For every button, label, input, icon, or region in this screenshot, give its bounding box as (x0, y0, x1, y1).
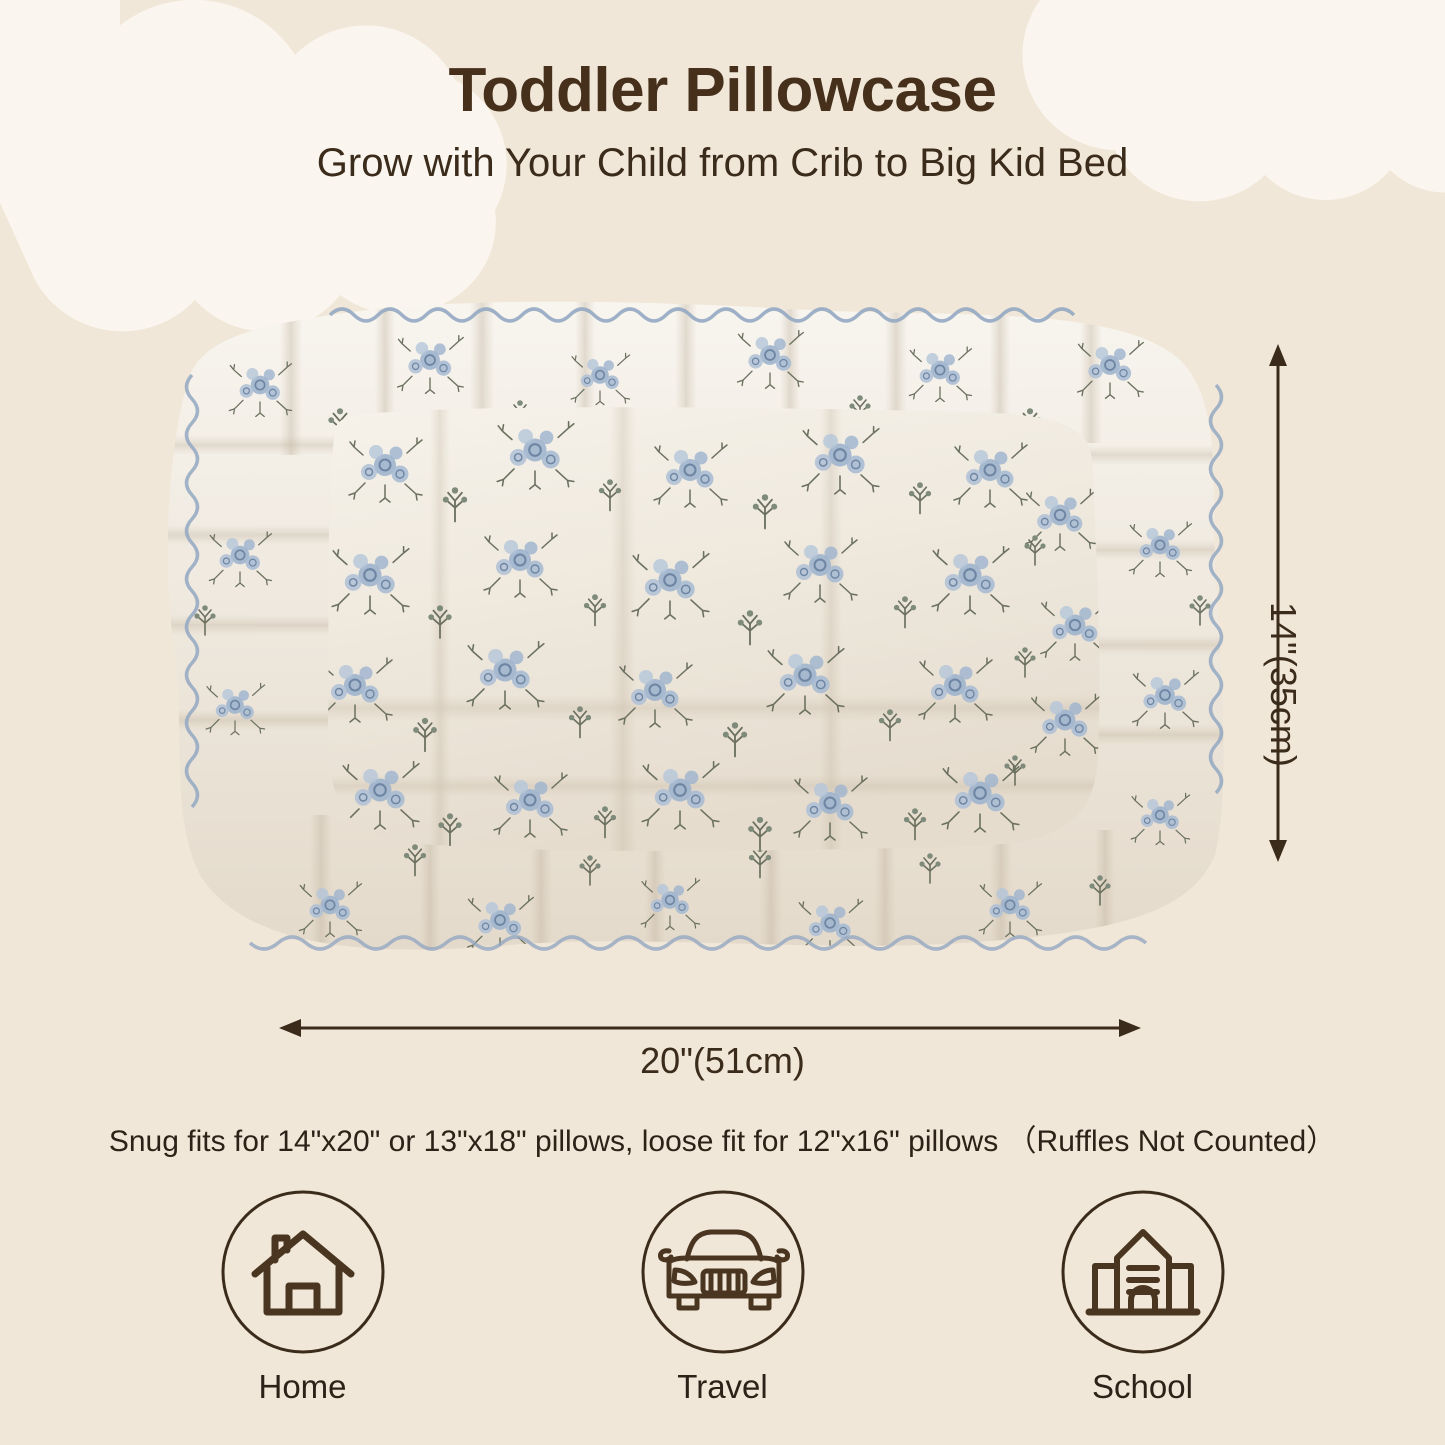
school-building-icon (1059, 1188, 1227, 1356)
width-dimension-label: 20"(51cm) (0, 1040, 1445, 1082)
car-icon (639, 1188, 807, 1356)
pillowcase-illustration (130, 255, 1240, 955)
use-case-home: Home (93, 1188, 513, 1403)
pillowcase-body (319, 405, 1120, 865)
header: Toddler Pillowcase Grow with Your Child … (0, 58, 1445, 185)
use-case-school: School (933, 1188, 1353, 1403)
page-title: Toddler Pillowcase (0, 58, 1445, 123)
infographic-page: Toddler Pillowcase Grow with Your Child … (0, 0, 1445, 1445)
use-case-travel: Travel (513, 1188, 933, 1403)
use-case-list: Home (0, 1188, 1445, 1403)
product-image-pillowcase (130, 255, 1240, 955)
page-subtitle: Grow with Your Child from Crib to Big Ki… (0, 141, 1445, 185)
use-case-label-school: School (1092, 1370, 1193, 1403)
use-case-label-travel: Travel (677, 1370, 767, 1403)
use-case-label-home: Home (258, 1370, 346, 1403)
fit-note-text: Snug fits for 14"x20" or 13"x18" pillows… (0, 1116, 1445, 1160)
height-dimension-label: 14"(35cm) (1262, 602, 1304, 767)
house-icon (219, 1188, 387, 1356)
